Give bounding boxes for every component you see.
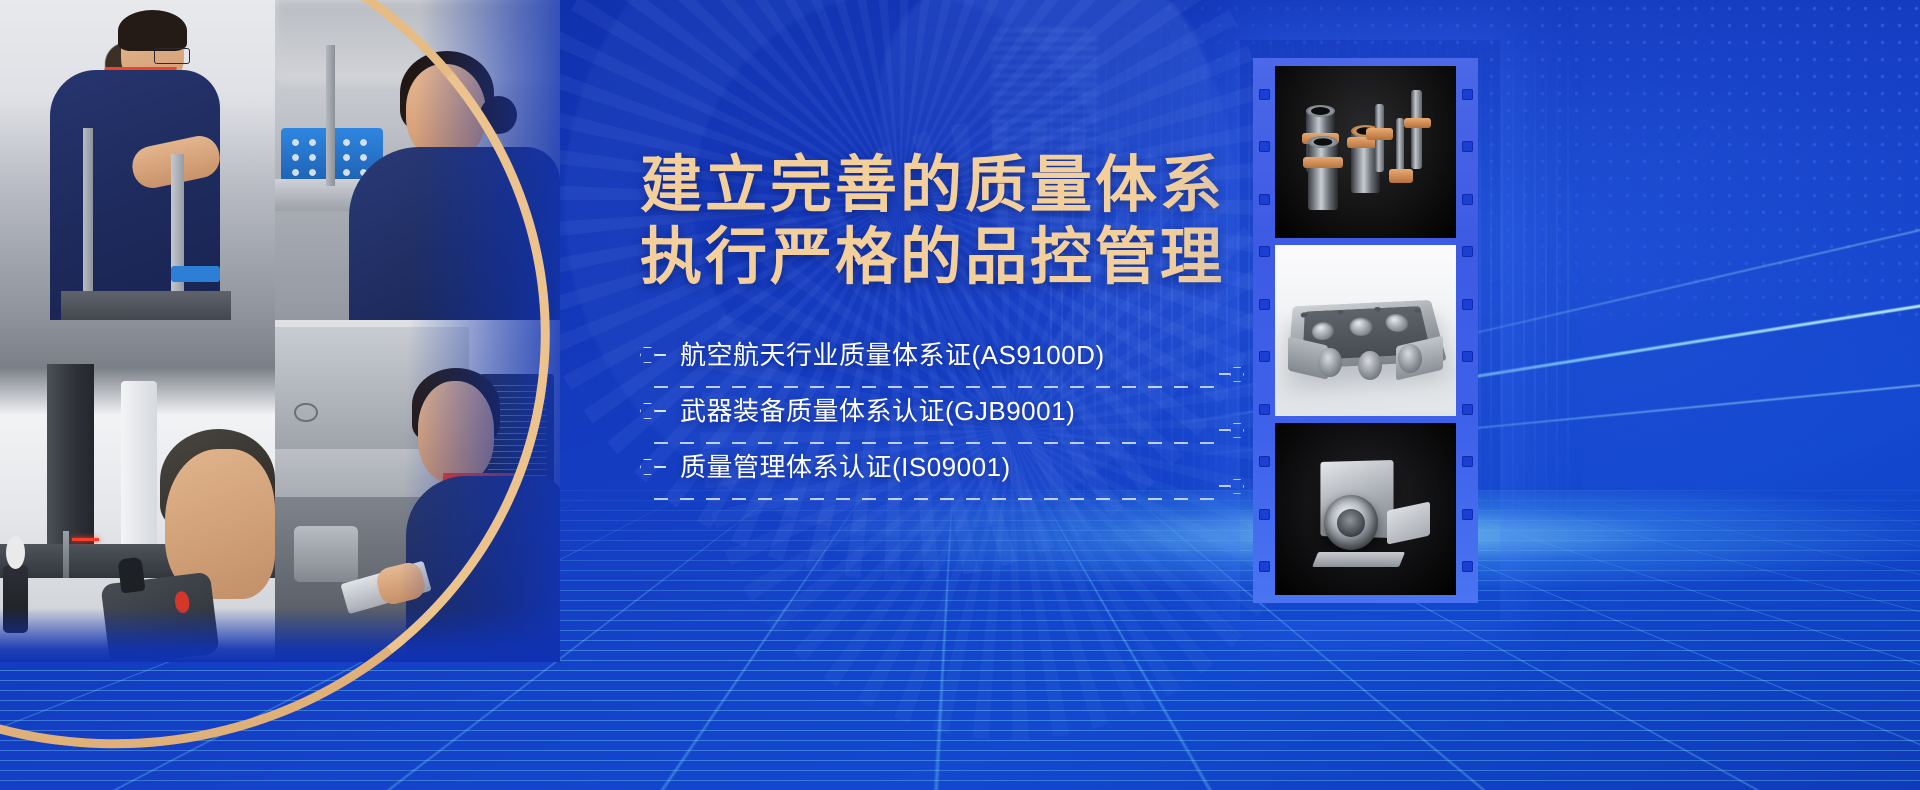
certification-label: 质量管理体系认证(IS09001) [680, 454, 1011, 480]
certification-label: 武器装备质量体系认证(GJB9001) [680, 398, 1075, 424]
product-filmstrip [1253, 58, 1478, 603]
certification-label: 航空航天行业质量体系证(AS9100D) [680, 342, 1105, 368]
bearing-block-photo [1275, 423, 1456, 595]
list-item: 航空航天行业质量体系证(AS9100D) [640, 332, 1180, 388]
filmstrip-perforations-right [1456, 58, 1478, 603]
hexagon-bullet-icon [640, 459, 666, 475]
machinist-cnc-photo [275, 320, 560, 660]
technician-height-gauge-photo [0, 0, 275, 320]
hexagon-end-icon [1218, 367, 1244, 382]
hexagon-bullet-icon [640, 347, 666, 363]
precision-pins-bushings-photo [1275, 66, 1456, 238]
aluminium-housing-photo [1275, 245, 1456, 417]
dashed-separator [654, 498, 1218, 500]
cmm-inspection-photo [0, 320, 275, 660]
list-item: 质量管理体系认证(IS09001) [640, 444, 1180, 500]
hexagon-end-icon [1218, 423, 1244, 438]
quality-system-banner: 建立完善的质量体系 执行严格的品控管理 航空航天行业质量体系证(AS9100D) [0, 0, 1920, 790]
hexagon-end-icon [1218, 479, 1244, 494]
filmstrip-perforations-left [1253, 58, 1275, 603]
headline-line-1: 建立完善的质量体系 [640, 150, 1200, 222]
photo-collage [0, 0, 560, 660]
operator-parts-tray-photo [275, 0, 560, 320]
list-item: 武器装备质量体系认证(GJB9001) [640, 388, 1180, 444]
hexagon-bullet-icon [640, 403, 666, 419]
page-title: 建立完善的质量体系 执行严格的品控管理 [640, 150, 1200, 294]
certification-list: 航空航天行业质量体系证(AS9100D) 武器装备质量体系认证(GJB9001) [640, 332, 1180, 500]
headline-line-2: 执行严格的品控管理 [640, 222, 1200, 294]
banner-content: 建立完善的质量体系 执行严格的品控管理 航空航天行业质量体系证(AS9100D) [640, 150, 1200, 500]
